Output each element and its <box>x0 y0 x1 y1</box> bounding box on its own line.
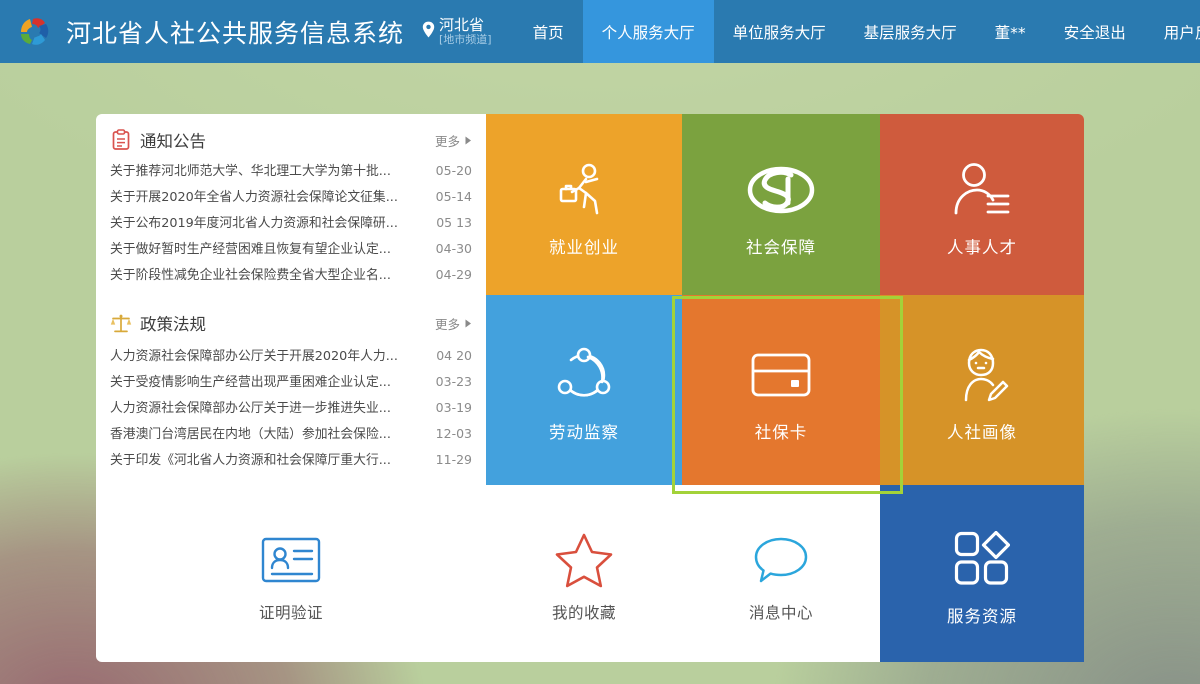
policy-title: 关于受疫情影响生产经营出现严重困难企业认定... <box>110 371 436 390</box>
notice-title: 关于推荐河北师范大学、华北理工大学为第十批... <box>110 160 436 179</box>
pinwheel-logo-icon <box>12 10 56 54</box>
notice-more-label: 更多 <box>435 131 460 150</box>
notice-date: 04-30 <box>436 241 472 256</box>
brand[interactable]: 河北省人社公共服务信息系统 <box>0 0 404 63</box>
bank-card-icon <box>751 337 811 413</box>
list-item[interactable]: 关于做好暂时生产经营困难且恢复有望企业认定... 04-30 <box>110 238 472 264</box>
star-icon <box>555 525 613 595</box>
tile-social-security-card[interactable]: 社保卡 <box>682 295 880 485</box>
policy-date: 12-03 <box>436 426 472 441</box>
list-item[interactable]: 关于印发《河北省人力资源和社会保障厅重大行... 11-29 <box>110 449 472 475</box>
tile-personnel-talent[interactable]: 人事人才 <box>880 114 1084 295</box>
policy-more-label: 更多 <box>435 314 460 333</box>
notice-date: 05-20 <box>436 163 472 178</box>
list-item[interactable]: 人力资源社会保障部办公厅关于开展2020年人力... 04 20 <box>110 345 472 371</box>
list-item[interactable]: 香港澳门台湾居民在内地（大陆）参加社会保险... 12-03 <box>110 423 472 449</box>
tile-message-center[interactable]: 消息中心 <box>682 485 880 662</box>
site-header: 河北省人社公共服务信息系统 河北省 [地市频道] 首页 个人服务大厅 单位服务大… <box>0 0 1200 63</box>
list-item[interactable]: 人力资源社会保障部办公厅关于进一步推进失业... 03-19 <box>110 397 472 423</box>
policy-panel: 政策法规 更多 人力资源社会保障部办公厅关于开展2020年人力... 04 20… <box>96 295 486 485</box>
list-item[interactable]: 关于受疫情影响生产经营出现严重困难企业认定... 03-23 <box>110 371 472 397</box>
running-person-briefcase-icon <box>553 152 615 228</box>
si-social-insurance-logo-icon <box>747 152 815 228</box>
list-item[interactable]: 关于开展2020年全省人力资源社会保障论文征集... 05-14 <box>110 186 472 212</box>
notice-date: 04-29 <box>436 267 472 282</box>
notice-more-link[interactable]: 更多 <box>435 131 472 150</box>
four-shapes-grid-icon <box>954 521 1010 597</box>
policy-date: 03-23 <box>436 374 472 389</box>
notice-date: 05 13 <box>436 215 472 230</box>
notice-title: 关于开展2020年全省人力资源社会保障论文征集... <box>110 186 436 205</box>
policy-more-link[interactable]: 更多 <box>435 314 472 333</box>
tile-social-security[interactable]: 社会保障 <box>682 114 880 295</box>
policy-date: 04 20 <box>436 348 472 363</box>
nav-item-personal-hall[interactable]: 个人服务大厅 <box>583 0 714 63</box>
tile-label: 消息中心 <box>749 601 813 623</box>
announcement-clipboard-icon <box>110 129 132 151</box>
chevron-right-icon <box>465 133 472 148</box>
list-item[interactable]: 关于阶段性减免企业社会保险费全省大型企业名... 04-29 <box>110 264 472 290</box>
tile-label: 社会保障 <box>746 234 816 258</box>
tile-certificate-verification[interactable]: 证明验证 <box>96 485 486 662</box>
tile-service-resources[interactable]: 服务资源 <box>880 485 1084 662</box>
main-nav: 首页 个人服务大厅 单位服务大厅 基层服务大厅 董** 安全退出 用户反馈 <box>514 0 1200 63</box>
nav-item-logout[interactable]: 安全退出 <box>1045 0 1145 63</box>
nav-item-grassroots-hall[interactable]: 基层服务大厅 <box>845 0 976 63</box>
policy-title: 人力资源社会保障部办公厅关于进一步推进失业... <box>110 397 436 416</box>
policy-panel-header: 政策法规 更多 <box>110 309 472 337</box>
policy-date: 03-19 <box>436 400 472 415</box>
tile-employment-entrepreneurship[interactable]: 就业创业 <box>486 114 682 295</box>
notice-panel-title: 通知公告 <box>140 128 206 152</box>
notice-title: 关于做好暂时生产经营困难且恢复有望企业认定... <box>110 238 436 257</box>
notice-title: 关于公布2019年度河北省人力资源和社会保障研... <box>110 212 436 231</box>
notice-panel-header: 通知公告 更多 <box>110 128 472 152</box>
tile-label: 证明验证 <box>259 601 323 623</box>
nav-item-user-account[interactable]: 董** <box>976 0 1045 63</box>
list-item[interactable]: 关于公布2019年度河北省人力资源和社会保障研... 05 13 <box>110 212 472 238</box>
nav-item-feedback[interactable]: 用户反馈 <box>1145 0 1200 63</box>
policy-title: 人力资源社会保障部办公厅关于开展2020年人力... <box>110 345 436 364</box>
region-name: 河北省 <box>439 18 492 34</box>
id-card-icon <box>261 525 321 595</box>
location-pin-icon <box>422 21 435 42</box>
notice-panel: 通知公告 更多 关于推荐河北师范大学、华北理工大学为第十批... 05-20 关… <box>96 114 486 295</box>
policy-date: 11-29 <box>436 452 472 467</box>
policy-title: 关于印发《河北省人力资源和社会保障厅重大行... <box>110 449 436 468</box>
notice-title: 关于阶段性减免企业社会保险费全省大型企业名... <box>110 264 436 283</box>
tile-my-favorites[interactable]: 我的收藏 <box>486 485 682 662</box>
dashboard-grid: 通知公告 更多 关于推荐河北师范大学、华北理工大学为第十批... 05-20 关… <box>96 114 1084 662</box>
region-selector[interactable]: 河北省 [地市频道] <box>422 0 492 63</box>
person-portrait-pen-icon <box>953 337 1011 413</box>
tile-hr-portrait[interactable]: 人社画像 <box>880 295 1084 485</box>
tile-label: 就业创业 <box>549 234 619 258</box>
scales-of-justice-icon <box>110 312 132 334</box>
chevron-right-icon <box>465 316 472 331</box>
tile-labor-inspection[interactable]: 劳动监察 <box>486 295 682 485</box>
tile-label: 人事人才 <box>947 234 1017 258</box>
tile-label: 劳动监察 <box>549 419 619 443</box>
notice-list: 关于推荐河北师范大学、华北理工大学为第十批... 05-20 关于开展2020年… <box>110 160 472 290</box>
tile-label: 服务资源 <box>947 603 1017 627</box>
policy-panel-title: 政策法规 <box>140 311 206 335</box>
tile-label: 社保卡 <box>755 419 808 443</box>
speech-bubble-icon <box>752 525 810 595</box>
list-item[interactable]: 关于推荐河北师范大学、华北理工大学为第十批... 05-20 <box>110 160 472 186</box>
tile-label: 我的收藏 <box>552 601 616 623</box>
person-with-lines-icon <box>951 152 1013 228</box>
network-nodes-icon <box>555 337 613 413</box>
nav-item-home[interactable]: 首页 <box>514 0 583 63</box>
tile-label: 人社画像 <box>947 419 1017 443</box>
region-sub-label: [地市频道] <box>439 34 492 46</box>
site-title: 河北省人社公共服务信息系统 <box>66 14 404 50</box>
nav-item-unit-hall[interactable]: 单位服务大厅 <box>714 0 845 63</box>
notice-date: 05-14 <box>436 189 472 204</box>
policy-list: 人力资源社会保障部办公厅关于开展2020年人力... 04 20 关于受疫情影响… <box>110 345 472 475</box>
policy-title: 香港澳门台湾居民在内地（大陆）参加社会保险... <box>110 423 436 442</box>
